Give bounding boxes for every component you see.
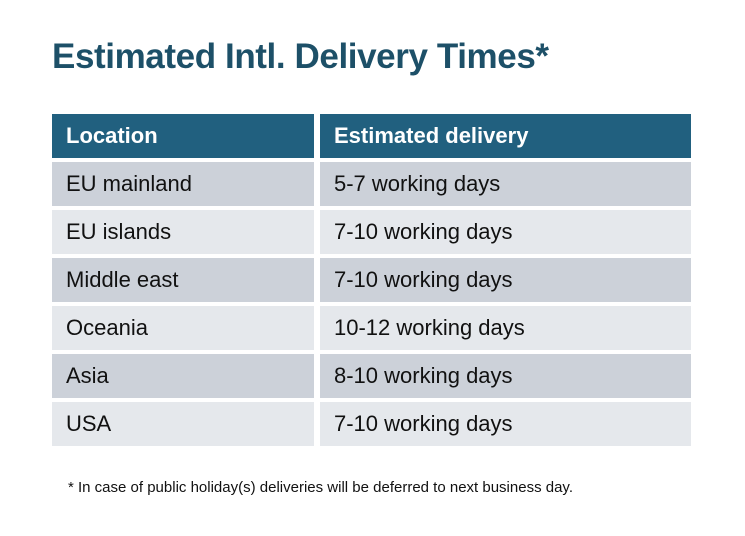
delivery-times-table: Location Estimated delivery EU mainland … <box>52 114 691 446</box>
cell-estimated-delivery: 5-7 working days <box>320 162 691 206</box>
cell-estimated-delivery: 7-10 working days <box>320 402 691 446</box>
table-header-row: Location Estimated delivery <box>52 114 691 158</box>
cell-location: Oceania <box>52 306 314 350</box>
table-row: EU mainland 5-7 working days <box>52 162 691 206</box>
column-header-location: Location <box>52 114 314 158</box>
cell-estimated-delivery: 7-10 working days <box>320 210 691 254</box>
cell-estimated-delivery: 10-12 working days <box>320 306 691 350</box>
cell-location: EU islands <box>52 210 314 254</box>
table-row: EU islands 7-10 working days <box>52 210 691 254</box>
page-title: Estimated Intl. Delivery Times* <box>52 36 549 78</box>
table-row: Asia 8-10 working days <box>52 354 691 398</box>
table-row: Middle east 7-10 working days <box>52 258 691 302</box>
footnote: * In case of public holiday(s) deliverie… <box>68 479 573 496</box>
cell-location: USA <box>52 402 314 446</box>
column-header-estimated-delivery: Estimated delivery <box>320 114 691 158</box>
cell-location: EU mainland <box>52 162 314 206</box>
cell-location: Asia <box>52 354 314 398</box>
cell-location: Middle east <box>52 258 314 302</box>
table-row: Oceania 10-12 working days <box>52 306 691 350</box>
cell-estimated-delivery: 7-10 working days <box>320 258 691 302</box>
cell-estimated-delivery: 8-10 working days <box>320 354 691 398</box>
delivery-times-page: Estimated Intl. Delivery Times* Location… <box>0 0 745 536</box>
table-row: USA 7-10 working days <box>52 402 691 446</box>
